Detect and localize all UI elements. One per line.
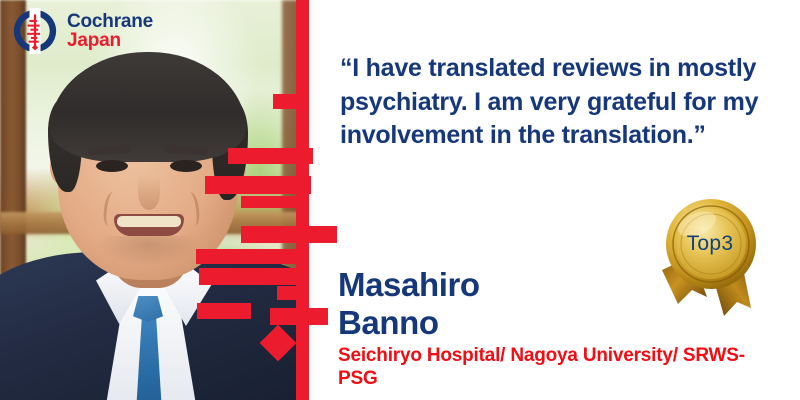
testimonial-card: Cochrane Japan “I have translated review… — [0, 0, 800, 400]
eye-left — [96, 160, 128, 172]
chin-shadow — [98, 236, 198, 266]
cochrane-japan-logo[interactable]: Cochrane Japan — [12, 8, 153, 54]
person-first-name: Masahiro — [338, 266, 480, 303]
logo-text-cochrane: Cochrane — [67, 12, 153, 31]
person-affiliation: Seichiryo Hospital/ Nagoya University/ S… — [338, 344, 768, 390]
badge-label: Top3 — [645, 196, 775, 256]
portrait-photo — [0, 0, 302, 400]
person-figure — [0, 0, 302, 400]
top3-award-badge: Top3 — [645, 196, 775, 328]
logo-text-japan: Japan — [67, 31, 153, 50]
person-last-name: Banno — [338, 304, 439, 341]
hair — [50, 52, 246, 162]
mouth — [114, 214, 184, 236]
person-name: Masahiro Banno — [338, 266, 668, 341]
cochrane-forest-plot-circle-icon — [12, 8, 58, 54]
nose — [138, 176, 160, 210]
logo-wordmark: Cochrane Japan — [67, 12, 153, 51]
testimonial-quote: “I have translated reviews in mostly psy… — [340, 52, 760, 153]
teeth — [117, 216, 181, 227]
eye-right — [170, 160, 202, 172]
